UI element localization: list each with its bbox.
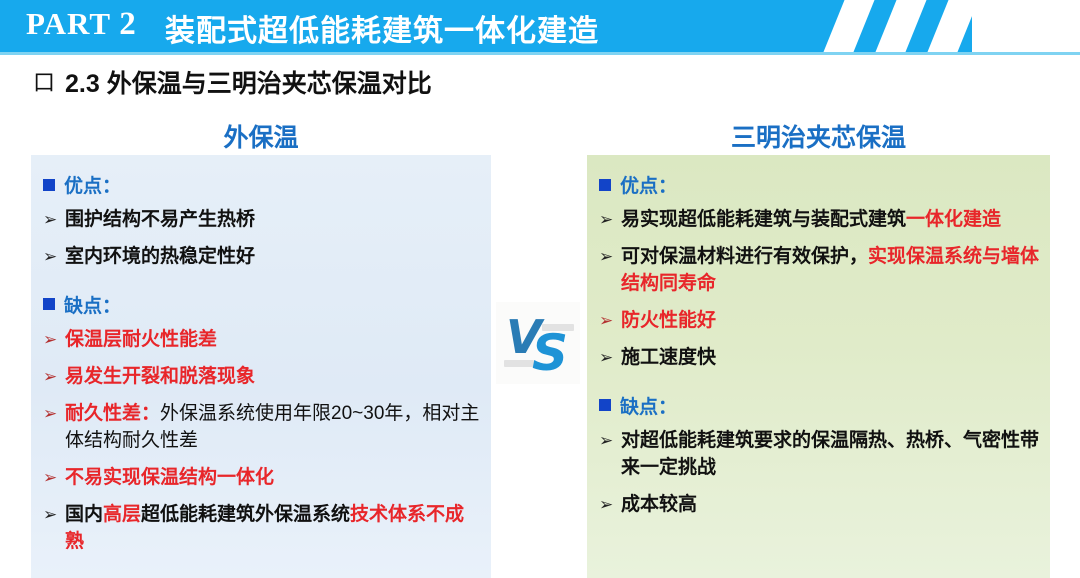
arrow-bullet-icon: ➢ (43, 465, 65, 491)
stripe-3 (872, 0, 929, 52)
group-heading: 优点： (43, 171, 481, 198)
header-bar: PART 2 装配式超低能耗建筑一体化建造 (0, 0, 1080, 52)
group-heading-label: 优点： (64, 171, 121, 198)
text-run: 易实现超低能耗建筑与装配式建筑 (621, 209, 906, 230)
arrow-bullet-icon: ➢ (599, 207, 621, 233)
list-item: ➢保温层耐火性能差 (43, 327, 481, 354)
group-heading-label: 优点： (620, 171, 677, 198)
text-run: 超低能耗建筑外保温系统 (141, 504, 350, 525)
list-item: ➢施工速度快 (599, 345, 1040, 372)
group-heading: 缺点： (43, 291, 481, 318)
page-title: 口2.3 外保温与三明治夹芯保温对比 (33, 64, 432, 100)
part-word: PART (26, 6, 110, 41)
list-item-text: 不易实现保温结构一体化 (65, 465, 481, 492)
list-item-text: 防火性能好 (621, 308, 1040, 335)
list-item: ➢可对保温材料进行有效保护，实现保温系统与墙体结构同寿命 (599, 244, 1040, 298)
list-item-text: 易实现超低能耗建筑与装配式建筑一体化建造 (621, 207, 1040, 234)
list-item: ➢室内环境的热稳定性好 (43, 244, 481, 271)
list-item-text: 围护结构不易产生热桥 (65, 207, 481, 234)
list-item-text: 成本较高 (621, 492, 1040, 519)
list-item: ➢围护结构不易产生热桥 (43, 207, 481, 234)
text-run: 施工速度快 (621, 347, 716, 368)
list-item-text: 对超低能耗建筑要求的保温隔热、热桥、气密性带来一定挑战 (621, 428, 1040, 482)
text-run: 保温层耐火性能差 (65, 329, 217, 350)
right-column-heading: 三明治夹芯保温 (587, 118, 1050, 154)
group-heading-label: 缺点： (620, 392, 677, 419)
group-heading: 缺点： (599, 392, 1040, 419)
list-item-text: 国内高层超低能耗建筑外保温系统技术体系不成熟 (65, 502, 481, 556)
arrow-bullet-icon: ➢ (43, 401, 65, 427)
text-run: 不易实现保温结构一体化 (65, 467, 274, 488)
versus-letter-s: S (532, 324, 568, 382)
list-item: ➢不易实现保温结构一体化 (43, 465, 481, 492)
list-item: ➢耐久性差：外保温系统使用年限20~30年，相对主体结构耐久性差 (43, 401, 481, 455)
list-item-text: 可对保温材料进行有效保护，实现保温系统与墙体结构同寿命 (621, 244, 1040, 298)
section-title-text: 2.3 外保温与三明治夹芯保温对比 (65, 70, 432, 98)
list-item: ➢成本较高 (599, 492, 1040, 519)
list-item: ➢国内高层超低能耗建筑外保温系统技术体系不成熟 (43, 502, 481, 556)
text-run: 成本较高 (621, 494, 697, 515)
square-bullet-icon (43, 179, 55, 191)
list-item-text: 保温层耐火性能差 (65, 327, 481, 354)
text-run: 围护结构不易产生热桥 (65, 209, 255, 230)
list-item-text: 耐久性差：外保温系统使用年限20~30年，相对主体结构耐久性差 (65, 401, 481, 455)
group-heading-label: 缺点： (64, 291, 121, 318)
list-item-text: 室内环境的热稳定性好 (65, 244, 481, 271)
arrow-bullet-icon: ➢ (43, 327, 65, 353)
arrow-bullet-icon: ➢ (43, 364, 65, 390)
left-comparison-panel: 优点：➢围护结构不易产生热桥➢室内环境的热稳定性好缺点：➢保温层耐火性能差➢易发… (31, 155, 491, 578)
list-item: ➢易发生开裂和脱落现象 (43, 364, 481, 391)
text-run: 易发生开裂和脱落现象 (65, 366, 255, 387)
right-comparison-panel: 优点：➢易实现超低能耗建筑与装配式建筑一体化建造➢可对保温材料进行有效保护，实现… (587, 155, 1050, 578)
text-run: 可对保温材料进行有效保护， (621, 246, 868, 267)
list-item-text: 施工速度快 (621, 345, 1040, 372)
list-item-text: 易发生开裂和脱落现象 (65, 364, 481, 391)
square-bullet-icon (599, 399, 611, 411)
list-item: ➢易实现超低能耗建筑与装配式建筑一体化建造 (599, 207, 1040, 234)
group-heading: 优点： (599, 171, 1040, 198)
text-run: 室内环境的热稳定性好 (65, 246, 255, 267)
text-run: 耐久性差： (65, 403, 160, 424)
list-item: ➢防火性能好 (599, 308, 1040, 335)
arrow-bullet-icon: ➢ (599, 308, 621, 334)
text-run: 高层 (103, 504, 141, 525)
diagonal-stripes-decoration (720, 0, 1080, 52)
header-underline (0, 52, 1080, 55)
square-outline-icon: 口 (33, 65, 55, 97)
text-run: 防火性能好 (621, 310, 716, 331)
part-label: PART 2 (26, 6, 137, 43)
arrow-bullet-icon: ➢ (599, 428, 621, 454)
square-bullet-icon (43, 298, 55, 310)
arrow-bullet-icon: ➢ (43, 207, 65, 233)
left-column-heading: 外保温 (31, 118, 491, 154)
arrow-bullet-icon: ➢ (599, 244, 621, 270)
part-number: 2 (119, 6, 137, 42)
stripe-4 (820, 0, 877, 52)
arrow-bullet-icon: ➢ (43, 502, 65, 528)
text-run: 国内 (65, 504, 103, 525)
arrow-bullet-icon: ➢ (599, 492, 621, 518)
text-run: 对超低能耗建筑要求的保温隔热、热桥、气密性带来一定挑战 (621, 430, 1039, 478)
header-title: 装配式超低能耗建筑一体化建造 (165, 6, 599, 50)
arrow-bullet-icon: ➢ (599, 345, 621, 371)
list-item: ➢对超低能耗建筑要求的保温隔热、热桥、气密性带来一定挑战 (599, 428, 1040, 482)
text-run: 一体化建造 (906, 209, 1001, 230)
versus-badge: V S (496, 302, 580, 384)
square-bullet-icon (599, 179, 611, 191)
arrow-bullet-icon: ➢ (43, 244, 65, 270)
